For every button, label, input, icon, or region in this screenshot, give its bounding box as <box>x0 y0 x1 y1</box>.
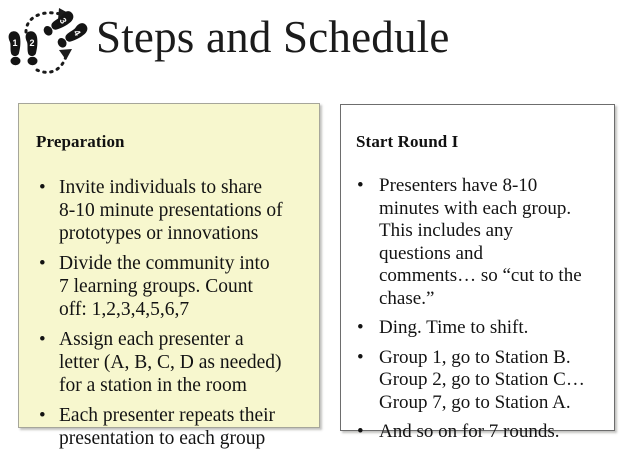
bullet-dot-icon: • <box>357 421 371 444</box>
list-item-text: Invite individuals to share 8-10 minute … <box>59 176 315 245</box>
list-item-line: questions and <box>379 243 611 266</box>
panel-preparation-heading: Preparation <box>36 132 125 152</box>
list-item-line: 8-10 minute presentations of <box>59 199 315 222</box>
list-item-text: Group 1, go to Station B. Group 2, go to… <box>379 347 611 415</box>
bullet-dot-icon: • <box>39 404 53 427</box>
list-item-line: And so on for 7 rounds. <box>379 421 611 444</box>
list-item: • Presenters have 8-10 minutes with each… <box>353 175 611 310</box>
list-item: • And so on for 7 rounds. <box>353 421 611 444</box>
bullet-dot-icon: • <box>357 317 371 340</box>
bullet-dot-icon: • <box>357 175 371 198</box>
panel-start-round-i-heading: Start Round I <box>356 132 458 152</box>
preparation-bullet-list: • Invite individuals to share 8-10 minut… <box>33 176 315 457</box>
list-item-text: Presenters have 8-10 minutes with each g… <box>379 175 611 310</box>
list-item: • Divide the community into 7 learning g… <box>33 252 315 321</box>
list-item-line: Divide the community into <box>59 252 315 275</box>
start-round-bullet-list: • Presenters have 8-10 minutes with each… <box>353 175 611 451</box>
numbered-footprints-icon: 1 2 3 4 <box>4 4 88 84</box>
list-item-line: minutes with each group. <box>379 198 611 221</box>
bullet-dot-icon: • <box>39 328 53 351</box>
svg-text:2: 2 <box>29 38 34 48</box>
list-item-line: Invite individuals to share <box>59 176 315 199</box>
list-item-line: comments… so “cut to the <box>379 265 611 288</box>
list-item: • Ding. Time to shift. <box>353 317 611 340</box>
list-item-line: Group 2, go to Station C… <box>379 369 611 392</box>
list-item-line: prototypes or innovations <box>59 222 315 245</box>
list-item: • Group 1, go to Station B. Group 2, go … <box>353 347 611 415</box>
list-item-line: letter (A, B, C, D as needed) <box>59 351 315 374</box>
list-item-line: This includes any <box>379 220 611 243</box>
list-item-line: chase.” <box>379 288 611 311</box>
list-item: • Each presenter repeats their presentat… <box>33 404 315 450</box>
list-item-text: Divide the community into 7 learning gro… <box>59 252 315 321</box>
bullet-dot-icon: • <box>39 176 53 199</box>
list-item-text: Ding. Time to shift. <box>379 317 611 340</box>
list-item-line: off: 1,2,3,4,5,6,7 <box>59 298 315 321</box>
list-item-line: Ding. Time to shift. <box>379 317 611 340</box>
page-title: Steps and Schedule <box>96 8 450 66</box>
svg-text:1: 1 <box>12 38 17 48</box>
list-item-line: Group 7, go to Station A. <box>379 392 611 415</box>
bullet-dot-icon: • <box>357 347 371 370</box>
list-item-line: Presenters have 8-10 <box>379 175 611 198</box>
list-item-line: Each presenter repeats their <box>59 404 315 427</box>
list-item-line: presentation to each group <box>59 427 315 450</box>
slide-header: 1 2 3 4 Steps and Schedule <box>0 0 628 92</box>
list-item: • Invite individuals to share 8-10 minut… <box>33 176 315 245</box>
bullet-dot-icon: • <box>39 252 53 275</box>
list-item-line: for a station in the room <box>59 374 315 397</box>
list-item-line: Assign each presenter a <box>59 328 315 351</box>
list-item: • Assign each presenter a letter (A, B, … <box>33 328 315 397</box>
list-item-text: Assign each presenter a letter (A, B, C,… <box>59 328 315 397</box>
list-item-text: And so on for 7 rounds. <box>379 421 611 444</box>
list-item-line: Group 1, go to Station B. <box>379 347 611 370</box>
panel-preparation: Preparation • Invite individuals to shar… <box>18 103 320 428</box>
list-item-text: Each presenter repeats their presentatio… <box>59 404 315 450</box>
panel-start-round-i: Start Round I • Presenters have 8-10 min… <box>340 104 615 431</box>
list-item-line: 7 learning groups. Count <box>59 275 315 298</box>
